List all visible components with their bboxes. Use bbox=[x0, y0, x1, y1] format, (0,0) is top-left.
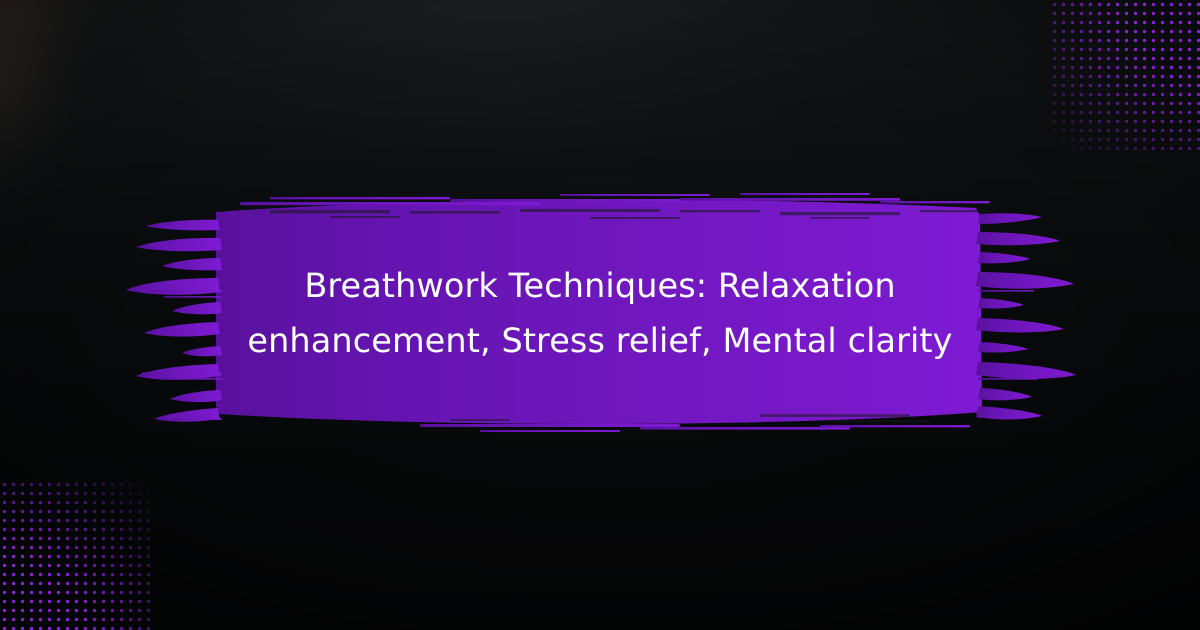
social-share-card: Breathwork Techniques: Relaxation enhanc… bbox=[0, 0, 1200, 630]
page-title: Breathwork Techniques: Relaxation enhanc… bbox=[160, 258, 1040, 368]
